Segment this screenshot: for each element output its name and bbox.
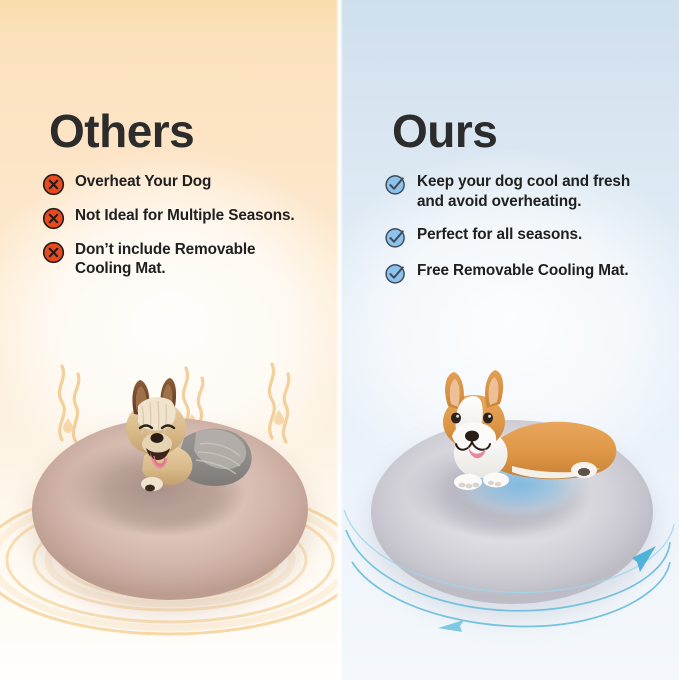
others-feature-list: Overheat Your Dog Not Ideal for Multiple… [42,172,314,279]
cross-circle-icon [42,207,65,230]
ours-feature-list: Keep your dog cool and fresh and avoid o… [384,172,656,297]
yorkshire-terrier-illustration [100,372,268,518]
comparison-infographic: Others Overheat Your Dog Not Ideal for M… [0,0,679,680]
cross-circle-icon [42,241,65,264]
ours-heading: Ours [392,108,497,154]
check-circle-icon [384,262,407,285]
list-item: Overheat Your Dog [42,172,314,195]
list-item: Perfect for all seasons. [384,225,656,248]
list-item-label: Keep your dog cool and fresh and avoid o… [417,172,656,212]
list-item: Keep your dog cool and fresh and avoid o… [384,172,656,212]
check-circle-icon [384,173,407,196]
corgi-illustration [408,370,636,510]
others-heading: Others [49,108,194,154]
list-item-label: Overheat Your Dog [75,172,211,191]
list-item-label: Free Removable Cooling Mat. [417,261,629,281]
list-item-label: Perfect for all seasons. [417,225,582,245]
cross-circle-icon [42,173,65,196]
list-item: Don’t include Removable Cooling Mat. [42,240,314,279]
check-circle-icon [384,226,407,249]
list-item: Free Removable Cooling Mat. [384,261,656,284]
list-item-label: Don’t include Removable Cooling Mat. [75,240,314,279]
list-item-label: Not Ideal for Multiple Seasons. [75,206,295,225]
list-item: Not Ideal for Multiple Seasons. [42,206,314,229]
